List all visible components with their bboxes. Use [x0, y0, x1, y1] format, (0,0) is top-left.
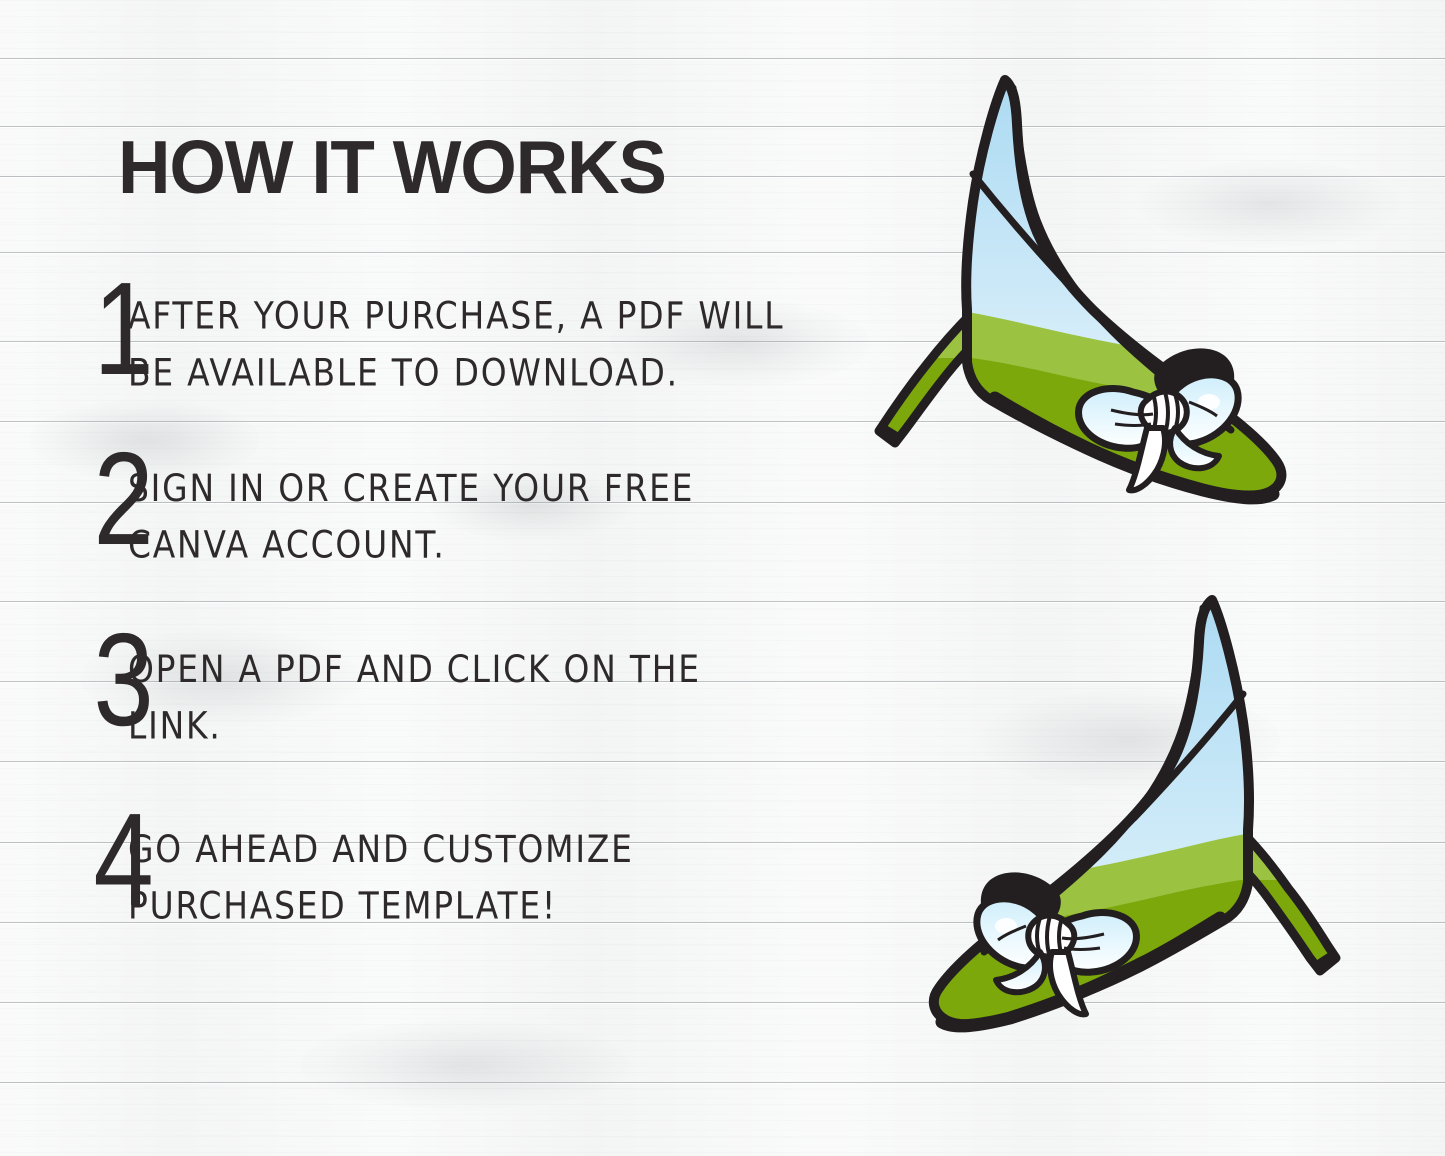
step-text-3: OPEN A PDF AND CLICK ON THE LINK. — [128, 623, 797, 756]
text-column: HOW IT WORKS 1 AFTER YOUR PURCHASE, A PD… — [0, 0, 840, 1156]
step-text-4: GO AHEAD AND CUSTOMIZE PURCHASED TEMPLAT… — [128, 803, 797, 936]
poster-canvas: HOW IT WORKS 1 AFTER YOUR PURCHASE, A PD… — [0, 0, 1445, 1156]
list-item: 3 OPEN A PDF AND CLICK ON THE LINK. — [0, 623, 840, 747]
high-heel-shoe-icon-bottom — [892, 576, 1362, 1136]
step-number-1: 1 — [0, 272, 105, 386]
step-number-3: 3 — [0, 623, 105, 737]
list-item: 4 GO AHEAD AND CUSTOMIZE PURCHASED TEMPL… — [0, 803, 840, 927]
step-text-1: AFTER YOUR PURCHASE, A PDF WILL BE AVAIL… — [128, 272, 797, 403]
steps-list: 1 AFTER YOUR PURCHASE, A PDF WILL BE AVA… — [0, 272, 840, 928]
step-number-4: 4 — [0, 803, 105, 917]
high-heel-shoe-icon-top — [845, 62, 1355, 552]
list-item: 2 SIGN IN OR CREATE YOUR FREE CANVA ACCO… — [0, 442, 840, 566]
step-text-2: SIGN IN OR CREATE YOUR FREE CANVA ACCOUN… — [128, 442, 797, 575]
step-number-2: 2 — [0, 442, 105, 556]
page-title: HOW IT WORKS — [118, 132, 666, 203]
list-item: 1 AFTER YOUR PURCHASE, A PDF WILL BE AVA… — [0, 272, 840, 394]
